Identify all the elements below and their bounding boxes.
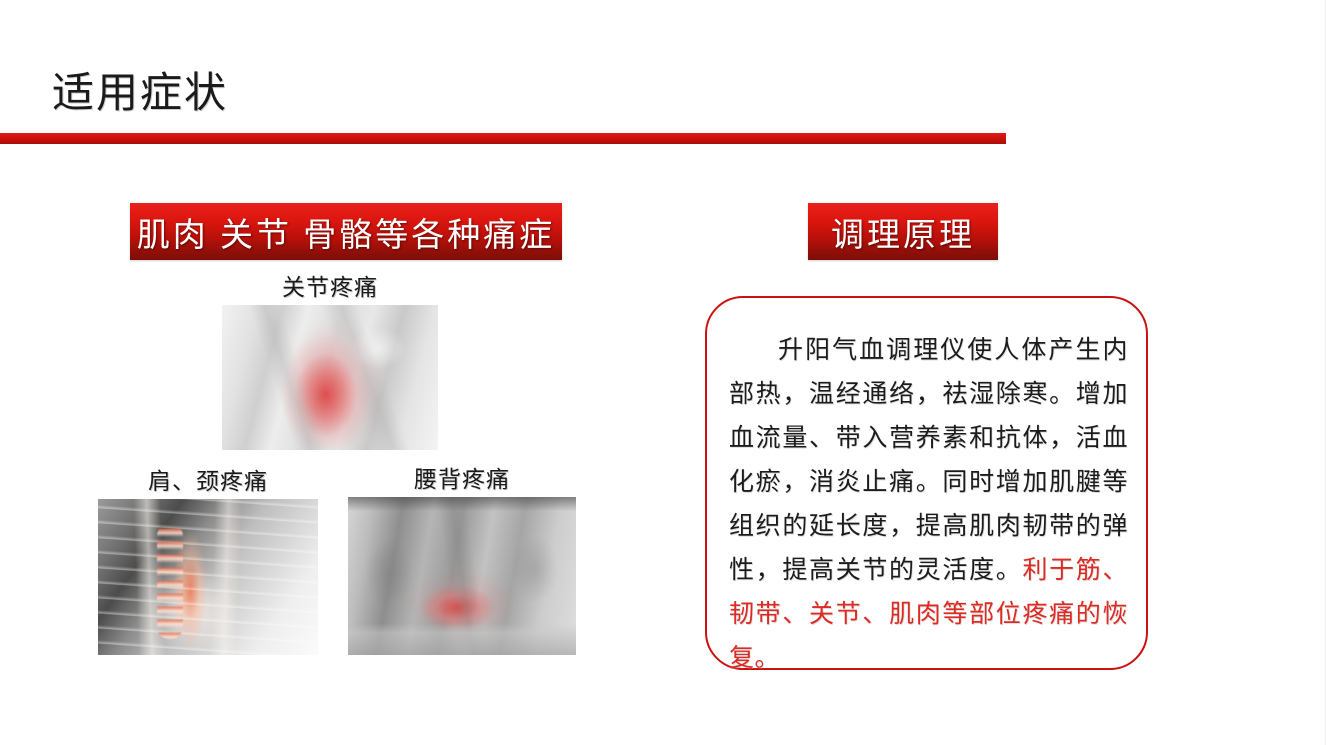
banner-symptoms: 肌肉 关节 骨骼等各种痛症 [130, 203, 562, 260]
title-underline-rule [0, 133, 1006, 144]
principle-body-text: 升阳气血调理仪使人体产生内部热，温经通络，祛湿除寒。增加血流量、带入营养素和抗体… [729, 329, 1128, 681]
banner-principle: 调理原理 [808, 203, 998, 260]
back-pain-photo [348, 497, 576, 655]
knee-pain-photo [222, 305, 438, 450]
figure-caption-joint-pain: 关节疼痛 [222, 268, 438, 302]
slide-root: 适用症状 肌肉 关节 骨骼等各种痛症 调理原理 关节疼痛 肩、颈疼痛 腰背疼痛 … [0, 0, 1326, 745]
banner-symptoms-label: 肌肉 关节 骨骼等各种痛症 [137, 208, 556, 256]
figure-caption-lower-back-pain: 腰背疼痛 [348, 460, 576, 494]
banner-principle-label: 调理原理 [831, 208, 975, 256]
principle-textbox: 升阳气血调理仪使人体产生内部热，温经通络，祛湿除寒。增加血流量、带入营养素和抗体… [705, 296, 1148, 670]
page-title: 适用症状 [52, 72, 228, 116]
figure-lower-back-pain: 腰背疼痛 [348, 460, 576, 655]
figure-joint-pain: 关节疼痛 [222, 268, 438, 450]
neck-spine-photo [98, 499, 318, 655]
figure-shoulder-neck-pain: 肩、颈疼痛 [98, 462, 318, 655]
figure-caption-shoulder-neck-pain: 肩、颈疼痛 [98, 462, 318, 496]
principle-body-plain: 升阳气血调理仪使人体产生内部热，温经通络，祛湿除寒。增加血流量、带入营养素和抗体… [729, 337, 1128, 584]
